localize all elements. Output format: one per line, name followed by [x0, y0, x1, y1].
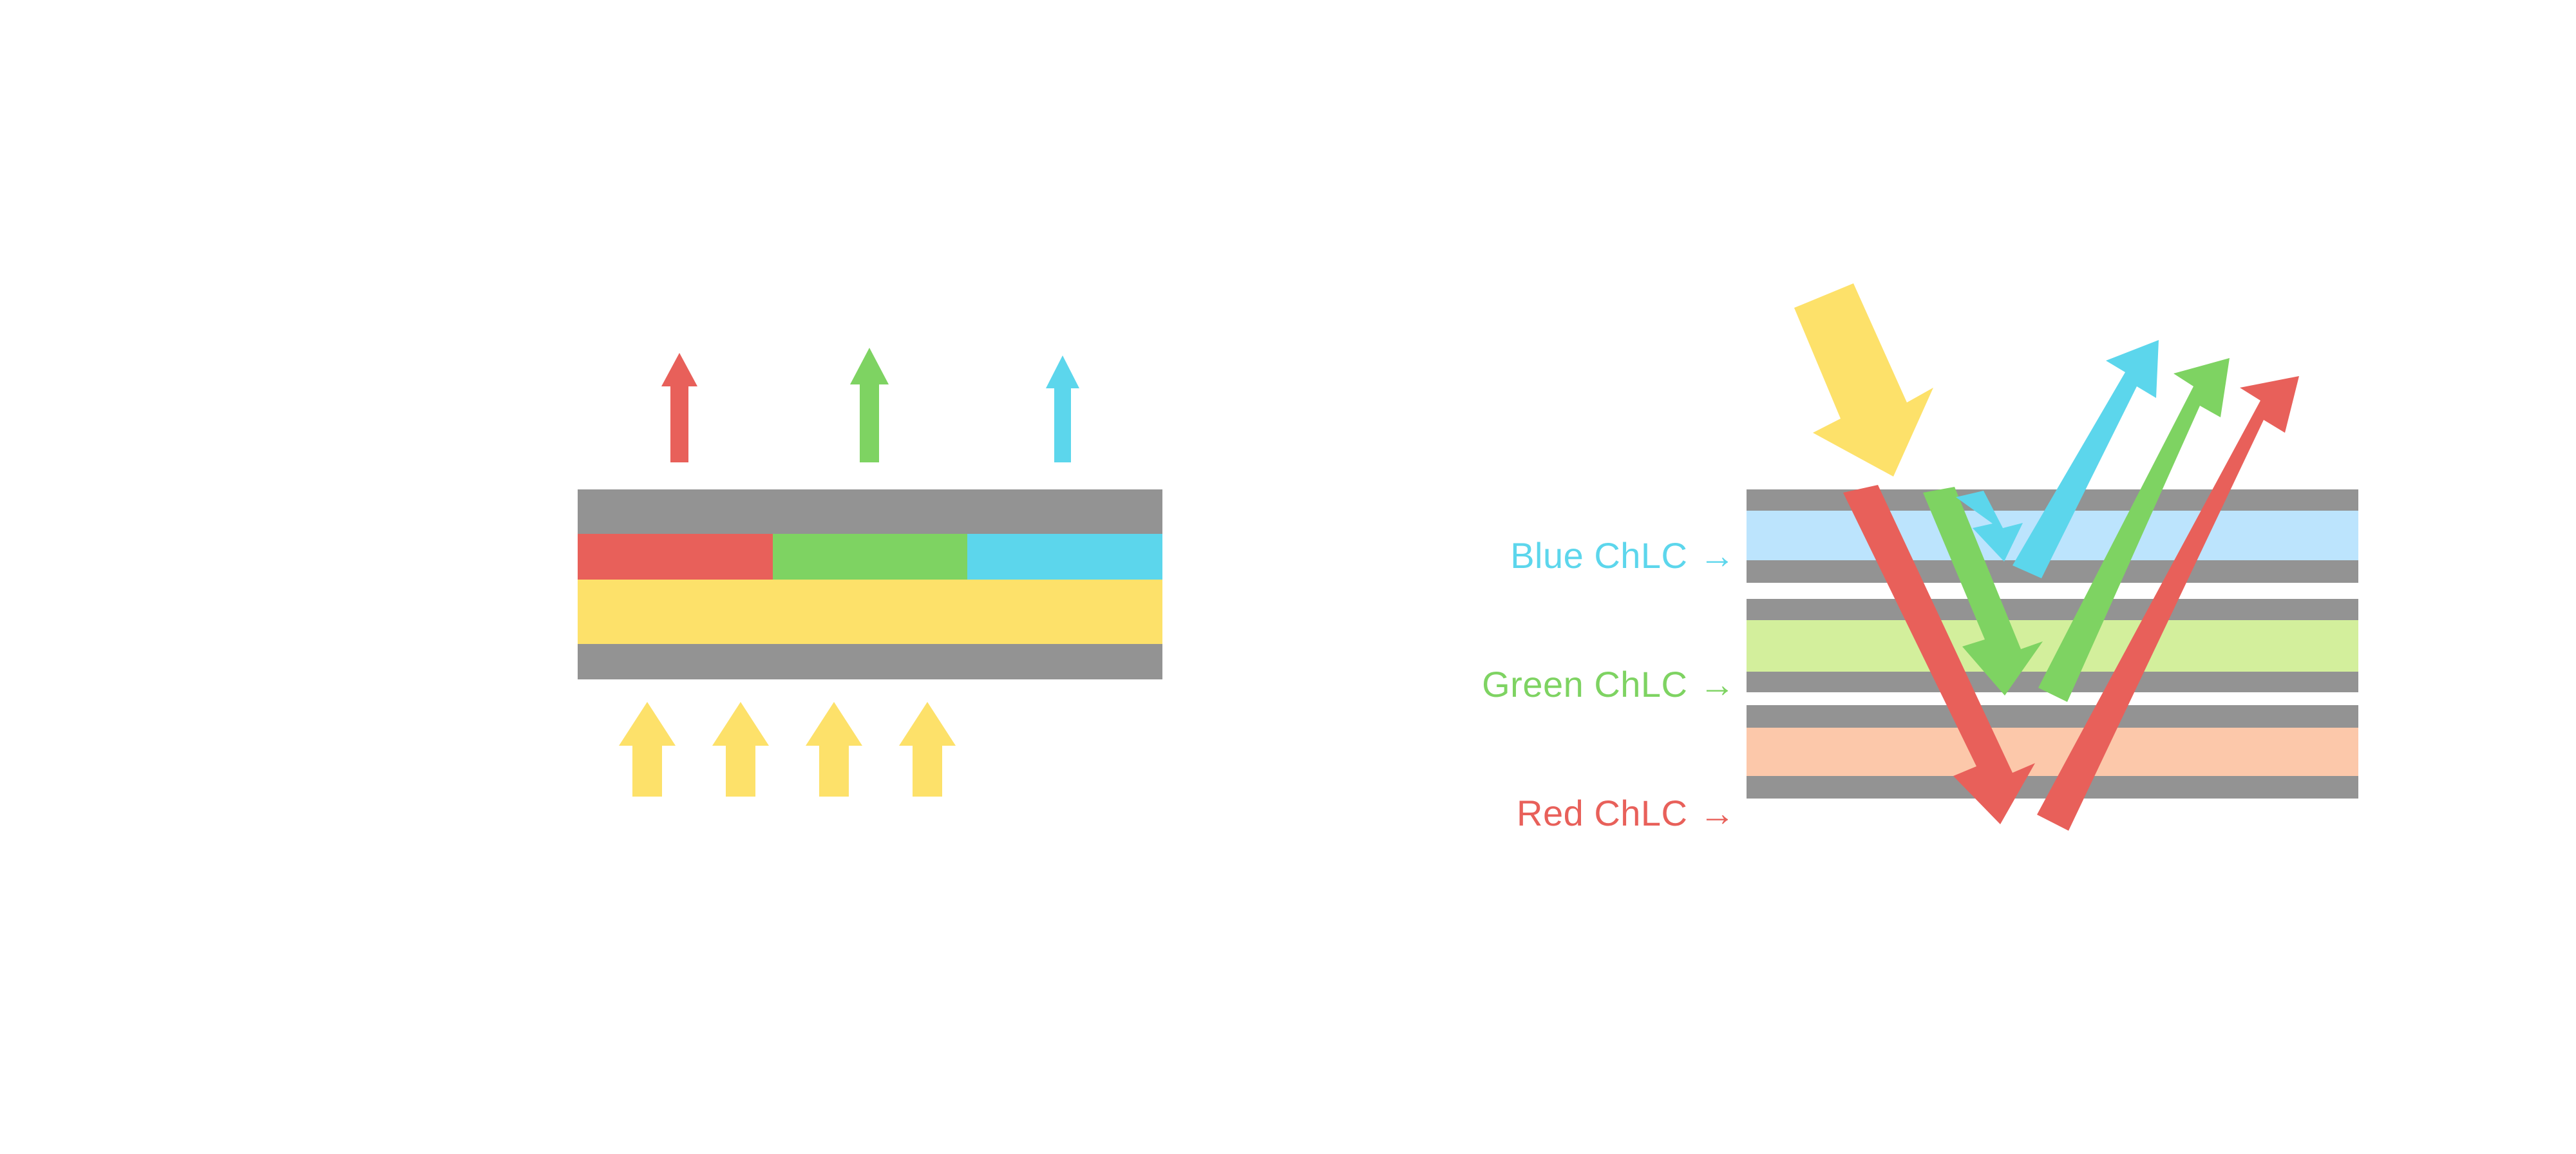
backlight-arrow-group	[619, 702, 956, 797]
backlight-arrow-2	[712, 702, 769, 797]
bottom-electrode-layer	[578, 644, 1162, 679]
diagram-canvas: Blue ChLC→ Green ChLC→ Red ChLC→	[0, 0, 2576, 1154]
cell-red-chlc	[1747, 705, 2358, 799]
label-red-chlc: Red ChLC→	[1517, 792, 1736, 834]
red-chlc-medium	[1747, 728, 2358, 776]
label-red-chlc-arrow-icon: →	[1700, 793, 1736, 833]
red-cell-top-electrode	[1747, 705, 2358, 728]
emitted-red-arrow	[661, 353, 697, 462]
label-red-chlc-text: Red ChLC	[1517, 793, 1687, 833]
label-green-chlc: Green ChLC→	[1482, 663, 1736, 705]
label-blue-chlc-arrow-icon: →	[1700, 535, 1736, 576]
backlight-arrow-1	[619, 702, 676, 797]
label-blue-chlc-text: Blue ChLC	[1510, 535, 1687, 576]
green-cell-top-electrode	[1747, 599, 2358, 620]
filter-segment-green	[773, 534, 967, 580]
filter-segment-red	[578, 534, 773, 580]
label-blue-chlc: Blue ChLC→	[1510, 534, 1736, 576]
emitted-arrow-group	[661, 348, 1079, 462]
incident-white-light-arrow	[1794, 283, 1933, 477]
blue-cell-bottom-electrode	[1747, 560, 2358, 583]
left-panel-backlit-stack	[0, 0, 1288, 1154]
emitted-blue-arrow	[1046, 355, 1079, 462]
left-stack-layers	[578, 489, 1162, 679]
emitted-green-arrow	[850, 348, 889, 462]
right-panel-chlc-stack: Blue ChLC→ Green ChLC→ Red ChLC→	[1288, 0, 2576, 1154]
backlight-layer	[578, 580, 1162, 644]
label-green-chlc-text: Green ChLC	[1482, 664, 1687, 705]
backlight-arrow-4	[899, 702, 956, 797]
filter-segment-blue	[967, 534, 1162, 580]
top-electrode-layer	[578, 489, 1162, 534]
backlight-arrow-3	[806, 702, 862, 797]
label-green-chlc-arrow-icon: →	[1700, 664, 1736, 705]
